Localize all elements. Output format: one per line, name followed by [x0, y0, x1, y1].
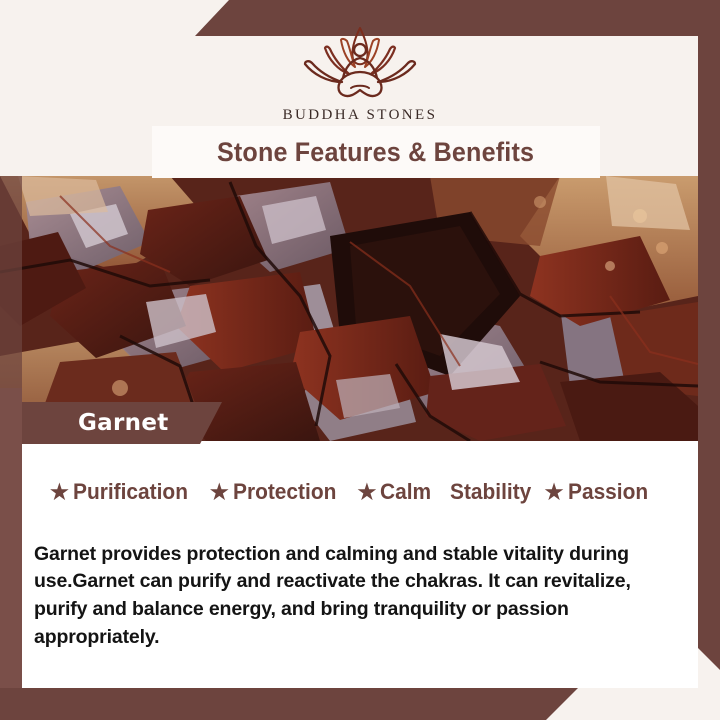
star-icon: ★ — [210, 482, 229, 503]
decorative-bar-left — [0, 388, 22, 688]
benefit-label: Purification — [73, 479, 188, 505]
benefit-item-stability: Stability — [450, 479, 536, 505]
photo-left-tint — [0, 176, 22, 388]
benefit-label: Passion — [568, 479, 648, 505]
brand-name: BUDDHA STONES — [283, 107, 438, 124]
benefit-item-purification: ★ Purification — [50, 479, 194, 505]
star-icon: ★ — [50, 482, 69, 503]
garnet-crystal-cluster-image — [0, 176, 698, 441]
benefit-item-calm: ★ Calm — [357, 479, 434, 505]
brand-logo: BUDDHA STONES — [0, 22, 720, 124]
title-panel: Stone Features & Benefits — [152, 126, 600, 178]
infographic-page: BUDDHA STONES Stone Features & Benefits — [0, 0, 720, 720]
stone-name-label: Garnet — [22, 410, 169, 436]
benefit-label: Calm — [380, 479, 431, 505]
benefit-label: Stability — [450, 479, 531, 505]
decorative-bar-bottom — [0, 688, 578, 720]
stone-description: Garnet provides protection and calming a… — [34, 541, 680, 652]
benefit-label: Protection — [233, 479, 336, 505]
stone-photo — [0, 176, 698, 441]
lotus-meditation-icon — [285, 22, 435, 100]
star-icon: ★ — [545, 482, 564, 503]
decorative-bar-right — [698, 36, 720, 670]
benefit-item-passion: ★ Passion — [545, 479, 652, 505]
page-title: Stone Features & Benefits — [217, 137, 534, 168]
stone-name-banner: Garnet — [22, 402, 222, 444]
star-icon: ★ — [357, 482, 376, 503]
benefit-item-protection: ★ Protection — [210, 479, 342, 505]
benefits-list: ★ Purification ★ Protection ★ Calm Stabi… — [50, 479, 690, 505]
